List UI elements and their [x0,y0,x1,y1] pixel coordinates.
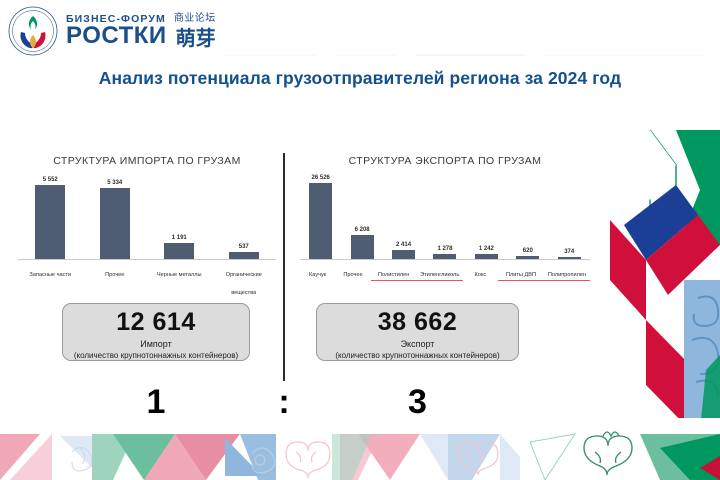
slide-header: · · · · · · · · · · · · БИЗНЕС-ФОРУМ 商业论… [0,0,720,58]
category-label: Каучук [309,272,326,278]
export-category-labels: Каучук Прочее Полистилен Этиленгликоль К… [300,263,590,281]
bar-col: 6 208 [351,173,374,259]
export-chart-plot: 26 526 6 208 2 414 1 278 1 242 [300,173,590,259]
import-chart-title: СТРУКТУРА ИМПОРТА ПО ГРУЗАМ [18,155,276,167]
vertical-divider [283,153,285,381]
category-label: Кокс [474,272,486,278]
import-total-sublabel: (количество крупнотоннажных контейнеров) [63,351,249,360]
bar-value-label: 2 414 [396,242,411,248]
bar [558,257,581,259]
bar-col: 374 [558,173,581,259]
export-axis-line [300,259,590,260]
bar [475,254,498,259]
import-axis-line [18,259,276,260]
slide-canvas: · · · · · · · · · · · · БИЗНЕС-ФОРУМ 商业论… [0,0,720,480]
bar-value-label: 6 208 [355,227,370,233]
bar-value-label: 1 191 [172,235,187,241]
ratio-right-value: 3 [316,385,519,419]
category-label-box: Прочее [335,263,370,281]
category-label-box: Плиты ДВП [498,263,544,281]
bar-value-label: 5 552 [43,177,58,183]
export-total-sublabel: (количество крупнотоннажных контейнеров) [317,351,518,360]
brand-text: БИЗНЕС-ФОРУМ 商业论坛 РОСТКИ 萌芽 [66,14,216,49]
bar-value-label: 1 278 [437,246,452,252]
export-chart-panel: СТРУКТУРА ЭКСПОРТА ПО ГРУЗАМ 26 526 6 20… [300,155,590,281]
bar-col: 620 [516,173,539,259]
category-label-box: Запасные части [27,263,73,281]
bar-col: 5 552 [35,173,65,259]
bar-value-label: 5 334 [107,180,122,186]
category-label: Полипропилен [544,272,590,281]
category-label: Прочее [343,272,362,278]
import-chart-plot: 5 552 5 334 1 191 537 [18,173,276,259]
bar-col: 1 278 [433,173,456,259]
page-title: Анализ потенциала грузоотправителей реги… [0,68,720,89]
bar-col: 1 191 [164,173,194,259]
bar [351,235,374,259]
export-total-box: 38 662 Экспорт (количество крупнотоннажн… [316,303,519,361]
right-decor-graphic [580,130,720,430]
category-label: Запасные части [29,272,71,278]
brand-forum-cn: 商业论坛 [174,14,216,24]
bar-value-label: 374 [564,249,574,255]
brand-logo: · · · · · · · · · · · · БИЗНЕС-ФОРУМ 商业论… [8,6,216,56]
bar [392,250,415,259]
bar-value-label: 620 [523,248,533,254]
bar-col: 26 526 [309,173,332,259]
forum-emblem-icon: · · · · · · · · · · · · [8,6,58,56]
ratio-left-value: 1 [62,385,250,419]
category-label-box: Полипропилен [544,263,590,281]
category-label: Прочее [105,272,124,278]
category-label-box: Органические вещества [221,263,267,299]
bar [164,243,194,259]
export-chart-title: СТРУКТУРА ЭКСПОРТА ПО ГРУЗАМ [300,155,590,167]
export-total-number: 38 662 [317,304,518,335]
bar [229,252,259,259]
category-label-box: Этиленгликоль [417,263,463,281]
category-label-box: Каучук [300,263,335,281]
bar [35,185,65,259]
svg-text:· · · · ·: · · · · · [29,9,38,13]
category-label: Органические вещества [226,272,262,296]
bar-value-label: 26 526 [312,175,330,181]
category-label-box: Черные металлы [156,263,202,281]
export-total-label: Экспорт [317,339,518,349]
import-chart-panel: СТРУКТУРА ИМПОРТА ПО ГРУЗАМ 5 552 5 334 … [18,155,276,299]
category-label-box: Кокс [463,263,498,281]
export-bars: 26 526 6 208 2 414 1 278 1 242 [300,173,590,259]
ratio-separator: : [274,385,294,419]
bar-value-label: 1 242 [479,246,494,252]
bar-col: 1 242 [475,173,498,259]
category-label: Этиленгликоль [417,272,463,281]
category-label: Плиты ДВП [498,272,544,281]
category-label: Черные металлы [157,272,202,278]
category-label-box: Полистилен [371,263,417,281]
brand-name-cn: 萌芽 [176,28,216,48]
bar [433,254,456,259]
bar-value-label: 537 [239,244,249,250]
import-category-labels: Запасные части Прочее Черные металлы Орг… [18,263,276,299]
bar-col: 5 334 [100,173,130,259]
import-total-label: Импорт [63,339,249,349]
bottom-decor-band [0,418,720,480]
bar [100,188,130,259]
brand-name-ru: РОСТКИ [66,24,167,48]
svg-text:· · · · · · ·: · · · · · · · [27,51,39,55]
category-label-box: Прочее [92,263,138,281]
bar [516,256,539,259]
bar-col: 537 [229,173,259,259]
import-total-box: 12 614 Импорт (количество крупнотоннажны… [62,303,250,361]
import-bars: 5 552 5 334 1 191 537 [18,173,276,259]
bar [309,183,332,259]
bar-col: 2 414 [392,173,415,259]
import-total-number: 12 614 [63,304,249,335]
category-label: Полистилен [371,272,417,281]
